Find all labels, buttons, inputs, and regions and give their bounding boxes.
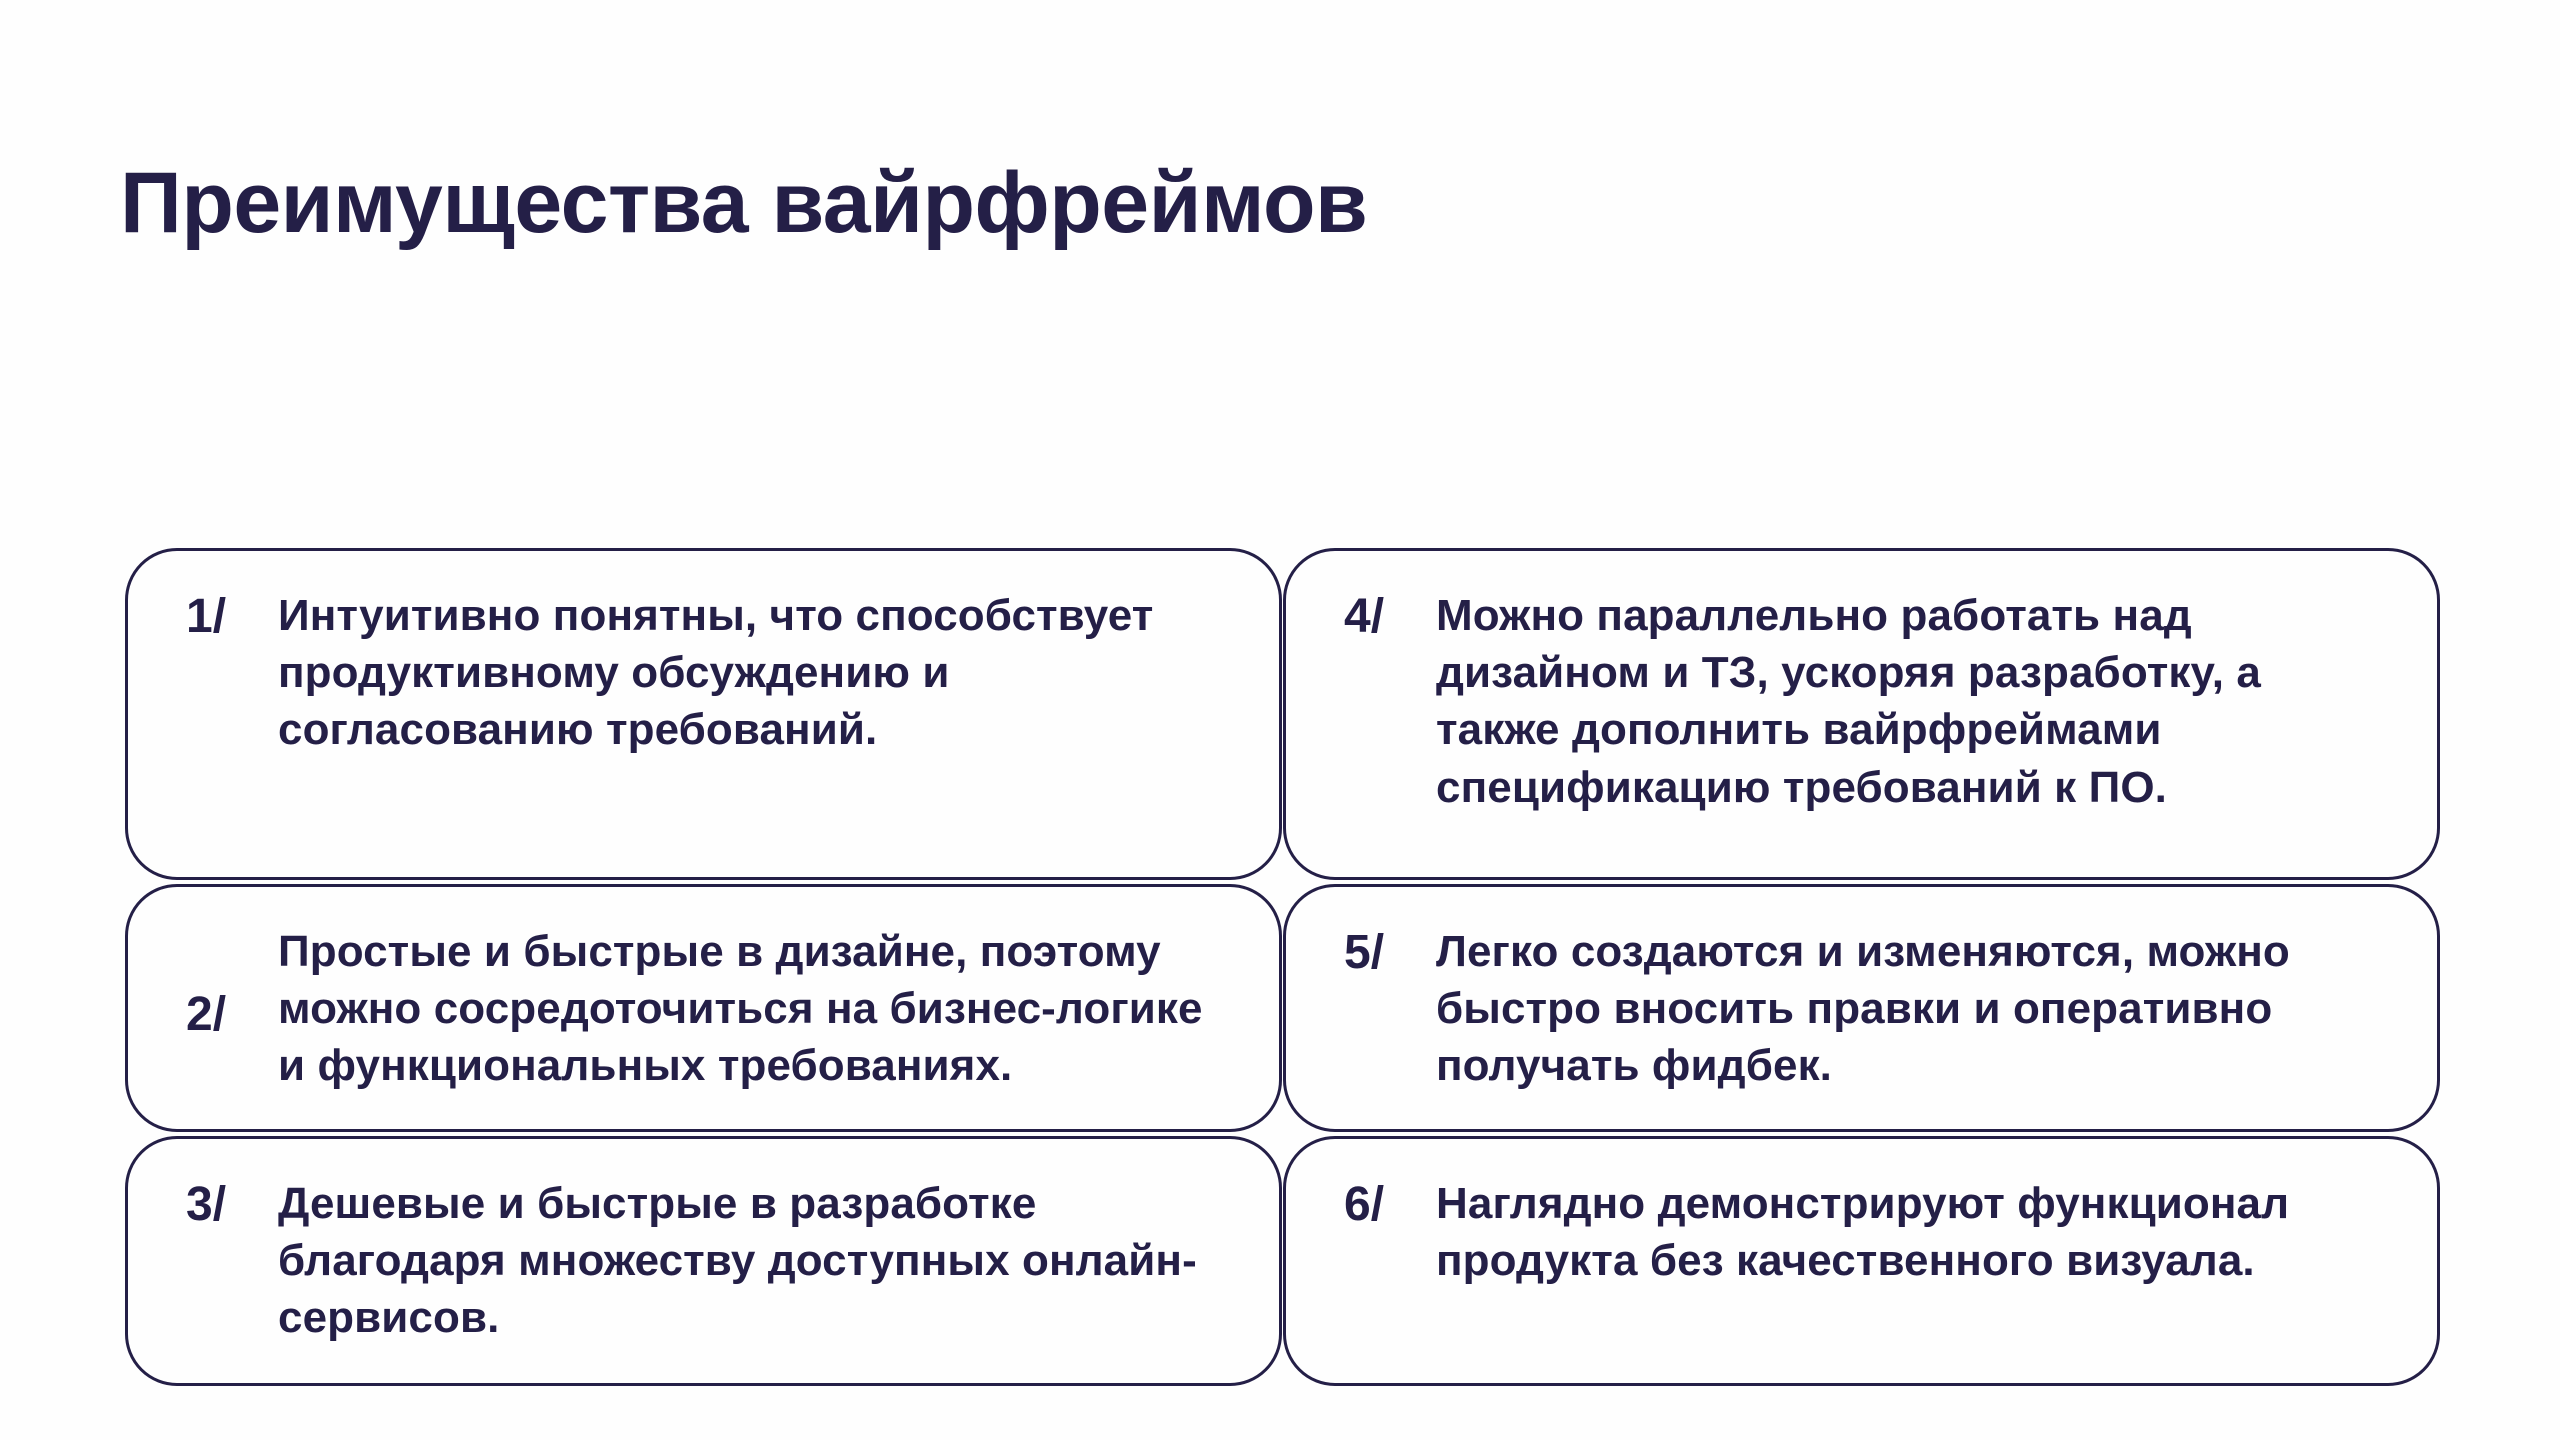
benefit-card-6-text: Наглядно демонстрируют функционал продук… bbox=[1436, 1175, 2391, 1289]
benefit-card-4-text: Можно параллельно работать над дизайном … bbox=[1436, 587, 2391, 816]
slide-canvas: Преимущества вайрфреймов 1/ Интуитивно п… bbox=[0, 0, 2560, 1440]
benefit-card-1-text: Интуитивно понятны, что способствует про… bbox=[278, 587, 1233, 759]
benefit-card-1-number: 1/ bbox=[186, 587, 278, 646]
benefit-card-6-number: 6/ bbox=[1344, 1175, 1436, 1234]
benefit-card-3[interactable]: 3/ Дешевые и быстрые в разработке благод… bbox=[125, 1136, 1282, 1386]
benefit-card-5-number: 5/ bbox=[1344, 923, 1436, 982]
benefit-card-5-text: Легко создаются и изменяются, можно быст… bbox=[1436, 923, 2391, 1095]
benefit-card-2-text: Простые и быстрые в дизайне, поэтому мож… bbox=[278, 923, 1233, 1095]
benefits-card-grid: 1/ Интуитивно понятны, что способствует … bbox=[125, 548, 2440, 1388]
benefit-card-4-number: 4/ bbox=[1344, 587, 1436, 646]
benefit-card-4[interactable]: 4/ Можно параллельно работать над дизайн… bbox=[1283, 548, 2440, 880]
benefit-card-2[interactable]: 2/ Простые и быстрые в дизайне, поэтому … bbox=[125, 884, 1282, 1132]
page-title: Преимущества вайрфреймов bbox=[120, 156, 1367, 251]
benefit-card-2-number: 2/ bbox=[186, 985, 278, 1044]
benefit-card-3-text: Дешевые и быстрые в разработке благодаря… bbox=[278, 1175, 1233, 1347]
benefit-card-5[interactable]: 5/ Легко создаются и изменяются, можно б… bbox=[1283, 884, 2440, 1132]
benefit-card-3-number: 3/ bbox=[186, 1175, 278, 1234]
benefit-card-6[interactable]: 6/ Наглядно демонстрируют функционал про… bbox=[1283, 1136, 2440, 1386]
benefit-card-1[interactable]: 1/ Интуитивно понятны, что способствует … bbox=[125, 548, 1282, 880]
